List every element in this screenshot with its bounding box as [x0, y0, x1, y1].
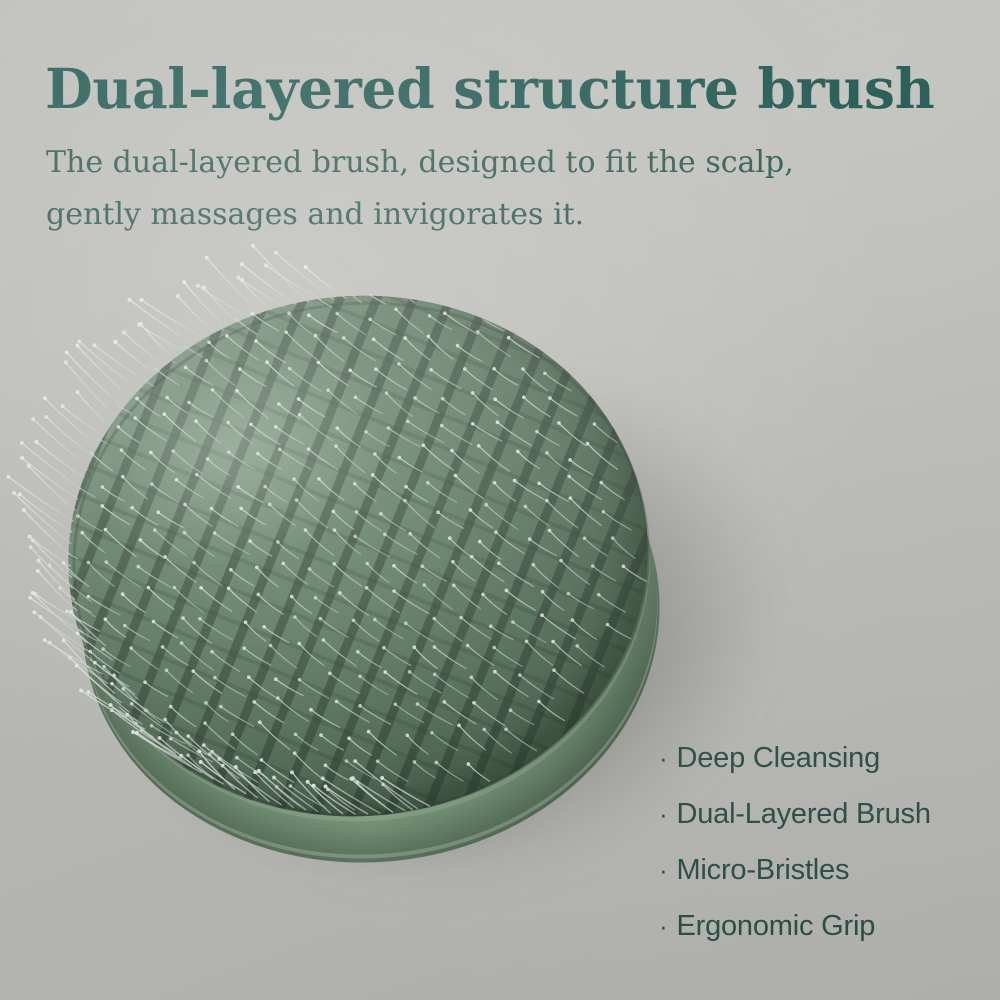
feature-item-dual-layered-brush: · Dual-Layered Brush — [659, 794, 931, 834]
bullet-icon: · — [659, 906, 667, 946]
page-subtitle: The dual-layered brush, designed to fit … — [46, 137, 794, 241]
feature-label: Ergonomic Grip — [676, 906, 875, 946]
page-title: Dual-layered structure brush — [45, 56, 934, 121]
brush-bristles — [60, 282, 676, 882]
feature-item-micro-bristles: · Micro-Bristles — [659, 850, 931, 890]
product-feature-banner: Dual-layered structure brush The dual-la… — [0, 0, 1000, 1000]
feature-label: Deep Cleansing — [676, 738, 880, 778]
feature-item-deep-cleansing: · Deep Cleansing — [659, 738, 931, 778]
feature-list: · Deep Cleansing · Dual-Layered Brush · … — [659, 738, 931, 946]
bullet-icon: · — [659, 850, 667, 890]
feature-label: Dual-Layered Brush — [676, 794, 930, 834]
feature-label: Micro-Bristles — [676, 850, 849, 890]
product-image-brush — [60, 282, 676, 882]
bullet-icon: · — [659, 794, 667, 834]
bullet-icon: · — [659, 738, 667, 778]
feature-item-ergonomic-grip: · Ergonomic Grip — [659, 906, 931, 946]
